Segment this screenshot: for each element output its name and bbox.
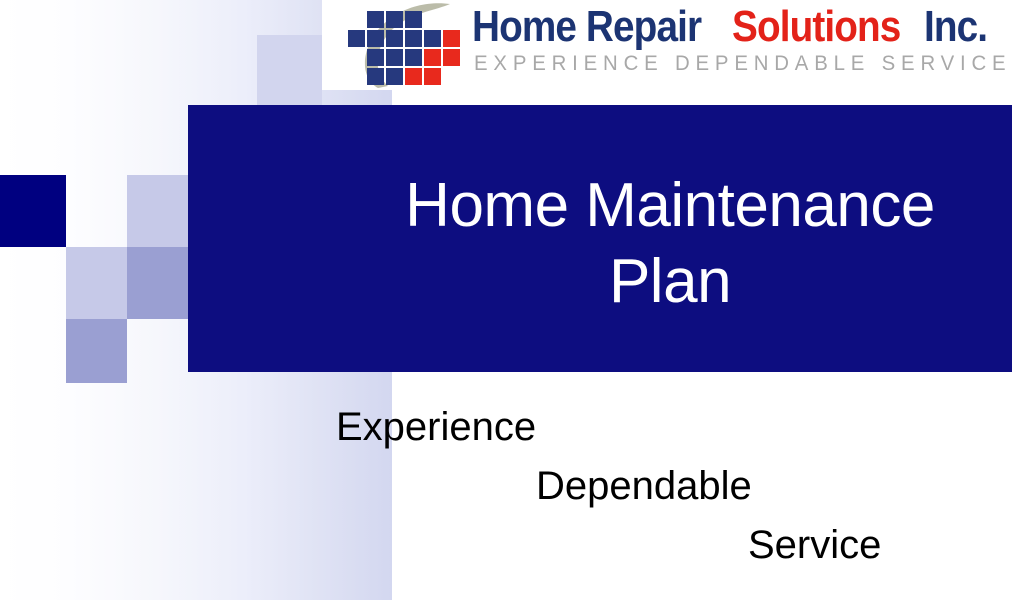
tagline-block: Experience Dependable Service <box>336 398 936 575</box>
square-mid-bottom <box>66 319 127 383</box>
square-light-mid <box>127 175 192 247</box>
tagline-line-service: Service <box>336 516 936 575</box>
logo-word-solutions: Solutions <box>732 2 900 52</box>
logo-block-mark-icon <box>332 0 472 90</box>
page-title-line-2: Plan <box>330 244 1010 320</box>
page-title: Home Maintenance Plan <box>330 168 1010 319</box>
tagline-line-experience: Experience <box>336 398 936 457</box>
square-pale-top <box>257 35 322 105</box>
logo-tagline: EXPERIENCE DEPENDABLE SERVICE <box>474 52 1011 76</box>
page-title-line-1: Home Maintenance <box>330 168 1010 244</box>
company-logo: Home Repair Solutions Inc. EXPERIENCE DE… <box>322 0 1012 90</box>
tagline-line-dependable: Dependable <box>336 457 936 516</box>
logo-word-inc: Inc. <box>924 2 987 52</box>
square-mid-lower <box>127 247 192 319</box>
logo-word-home-repair: Home Repair <box>472 2 701 52</box>
logo-wordmark: Home Repair Solutions Inc. <box>472 2 1002 52</box>
square-dark-left <box>0 175 66 247</box>
slide-canvas: Home Maintenance Plan <box>0 0 1024 600</box>
square-light-lower <box>66 247 127 319</box>
